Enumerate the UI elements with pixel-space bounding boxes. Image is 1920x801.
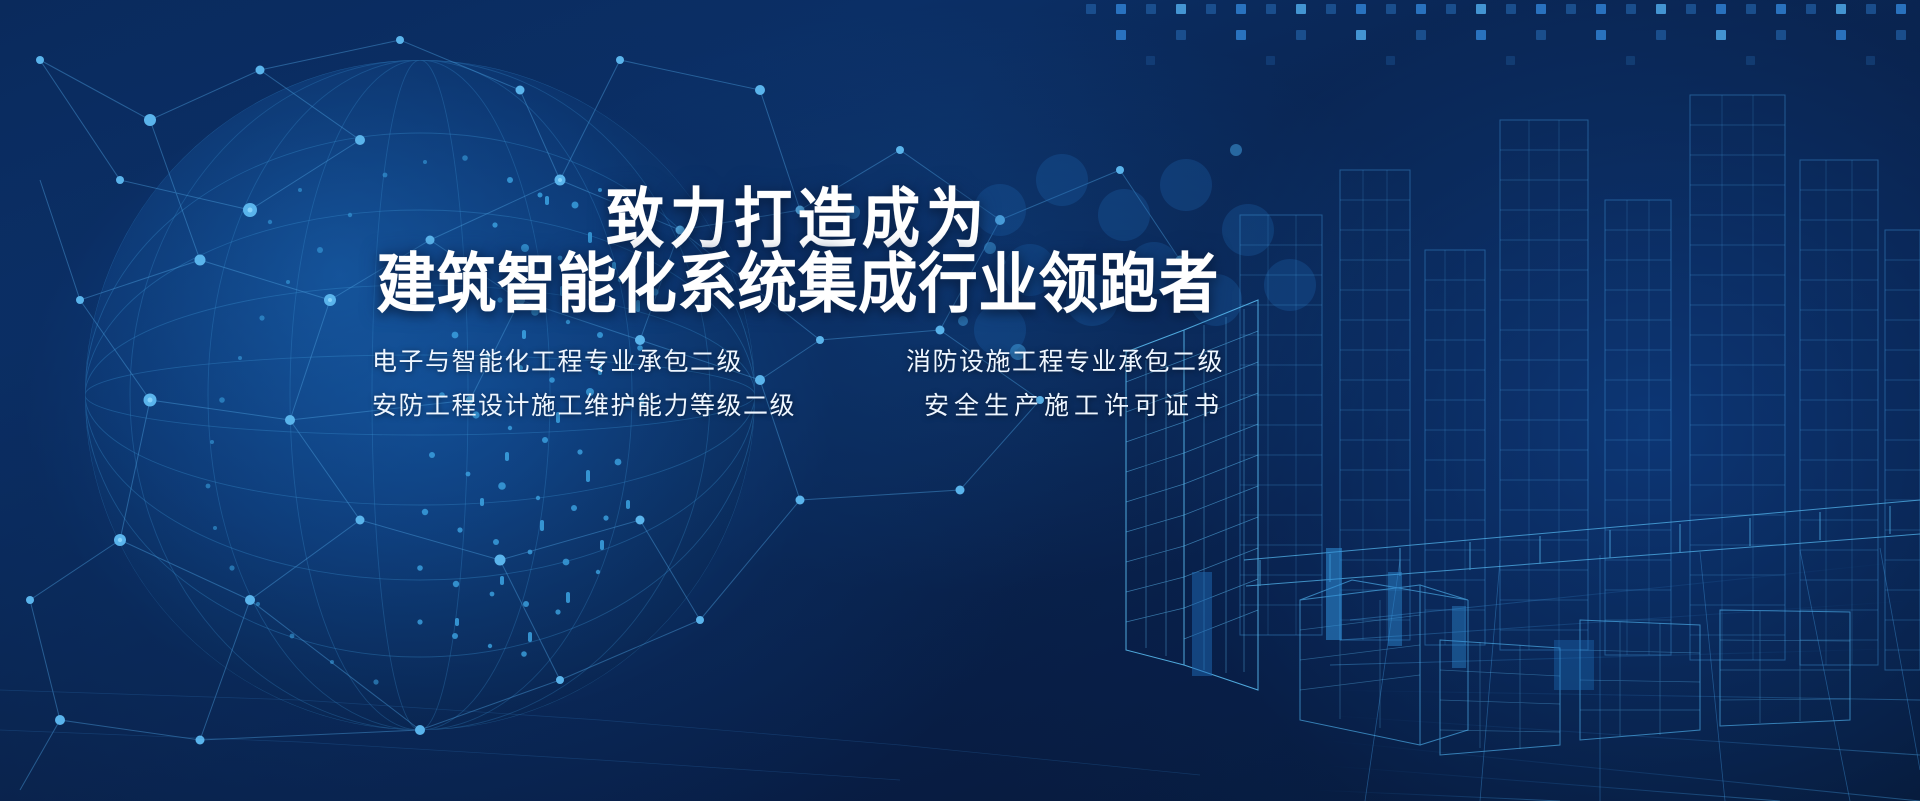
- hero-banner: 致力打造成为 建筑智能化系统集成行业领跑者 电子与智能化工程专业承包二级 消防设…: [0, 0, 1920, 801]
- wireframe-city-graphic: [0, 0, 1920, 801]
